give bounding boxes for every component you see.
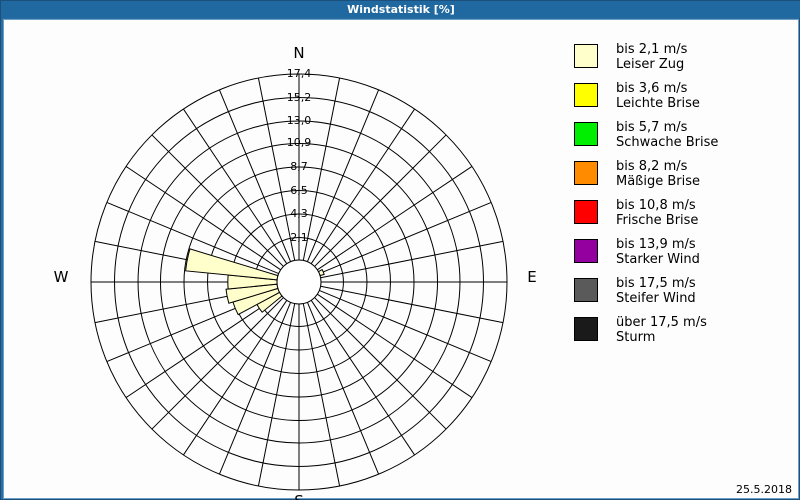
- radial-tick-label: 8,7: [277, 160, 321, 173]
- legend-label: bis 17,5 m/sSteifer Wind: [616, 276, 696, 306]
- legend-beaufort-name: Sturm: [616, 330, 707, 345]
- petal-sector: [186, 249, 278, 280]
- grid-spoke-15: [303, 304, 339, 486]
- legend-speed-range: bis 5,7 m/s: [616, 120, 718, 135]
- window-title-bar: Windstatistik [%]: [1, 1, 800, 18]
- radial-tick-label: 17,4: [277, 67, 321, 80]
- date-stamp: 25.5.2018: [736, 483, 792, 496]
- legend-speed-range: über 17,5 m/s: [616, 315, 707, 330]
- legend-color-swatch: [574, 317, 598, 341]
- calm-circle: [277, 260, 321, 304]
- legend-beaufort-name: Frische Brise: [616, 213, 698, 228]
- legend-item: bis 8,2 m/sMäßige Brise: [574, 159, 798, 189]
- legend-label: bis 13,9 m/sStarker Wind: [616, 237, 700, 267]
- radial-tick-label: 10,9: [277, 136, 321, 149]
- grid-spoke-20: [152, 298, 284, 430]
- legend-color-swatch: [574, 122, 598, 146]
- legend-label: bis 3,6 m/sLeichte Brise: [616, 81, 700, 111]
- radial-tick-label: 2,1: [277, 231, 321, 244]
- compass-label-west: W: [46, 268, 76, 286]
- legend-speed-range: bis 2,1 m/s: [616, 42, 687, 57]
- legend-speed-range: bis 13,9 m/s: [616, 237, 700, 252]
- window-title: Windstatistik [%]: [347, 3, 455, 16]
- wind-rose-chart: N S W E 2,14,36,58,710,913,015,217,4: [4, 20, 564, 498]
- legend-color-swatch: [574, 239, 598, 263]
- grid-spoke-9: [321, 286, 503, 322]
- compass-label-east: E: [517, 268, 547, 286]
- legend-color-swatch: [574, 44, 598, 68]
- legend-speed-range: bis 17,5 m/s: [616, 276, 696, 291]
- legend-speed-range: bis 10,8 m/s: [616, 198, 698, 213]
- legend-item: bis 3,6 m/sLeichte Brise: [574, 81, 798, 111]
- legend-label: bis 2,1 m/sLeiser Zug: [616, 42, 687, 72]
- legend-speed-range: bis 3,6 m/s: [616, 81, 700, 96]
- radial-tick-label: 13,0: [277, 114, 321, 127]
- window-client-area: N S W E 2,14,36,58,710,913,015,217,4 bis…: [3, 19, 799, 499]
- wind-speed-legend: bis 2,1 m/sLeiser Zugbis 3,6 m/sLeichte …: [574, 42, 798, 354]
- legend-label: bis 10,8 m/sFrische Brise: [616, 198, 698, 228]
- compass-label-south: S: [284, 492, 314, 500]
- legend-beaufort-name: Leiser Zug: [616, 57, 687, 72]
- legend-beaufort-name: Steifer Wind: [616, 291, 696, 306]
- legend-beaufort-name: Starker Wind: [616, 252, 700, 267]
- grid-spoke-7: [321, 241, 503, 277]
- compass-label-north: N: [284, 44, 314, 62]
- legend-label: bis 8,2 m/sMäßige Brise: [616, 159, 700, 189]
- wind-statistics-window: Windstatistik [%] N S W E 2,14,36,58,710…: [0, 0, 800, 500]
- legend-color-swatch: [574, 161, 598, 185]
- radial-tick-label: 15,2: [277, 91, 321, 104]
- legend-speed-range: bis 8,2 m/s: [616, 159, 700, 174]
- grid-spoke-4: [315, 135, 447, 267]
- legend-beaufort-name: Schwache Brise: [616, 135, 718, 150]
- legend-item: bis 10,8 m/sFrische Brise: [574, 198, 798, 228]
- legend-item: bis 2,1 m/sLeiser Zug: [574, 42, 798, 72]
- legend-item: bis 5,7 m/sSchwache Brise: [574, 120, 798, 150]
- legend-beaufort-name: Leichte Brise: [616, 96, 700, 111]
- legend-color-swatch: [574, 83, 598, 107]
- grid-spoke-17: [258, 304, 294, 486]
- grid-spoke-28: [152, 135, 284, 267]
- legend-item: über 17,5 m/sSturm: [574, 315, 798, 345]
- legend-label: bis 5,7 m/sSchwache Brise: [616, 120, 718, 150]
- calm-circle-outline: [277, 260, 321, 304]
- legend-beaufort-name: Mäßige Brise: [616, 174, 700, 189]
- radial-tick-label: 6,5: [277, 184, 321, 197]
- legend-item: bis 17,5 m/sSteifer Wind: [574, 276, 798, 306]
- grid-spoke-12: [315, 298, 447, 430]
- legend-color-swatch: [574, 278, 598, 302]
- legend-item: bis 13,9 m/sStarker Wind: [574, 237, 798, 267]
- radial-tick-label: 4,3: [277, 207, 321, 220]
- legend-label: über 17,5 m/sSturm: [616, 315, 707, 345]
- legend-color-swatch: [574, 200, 598, 224]
